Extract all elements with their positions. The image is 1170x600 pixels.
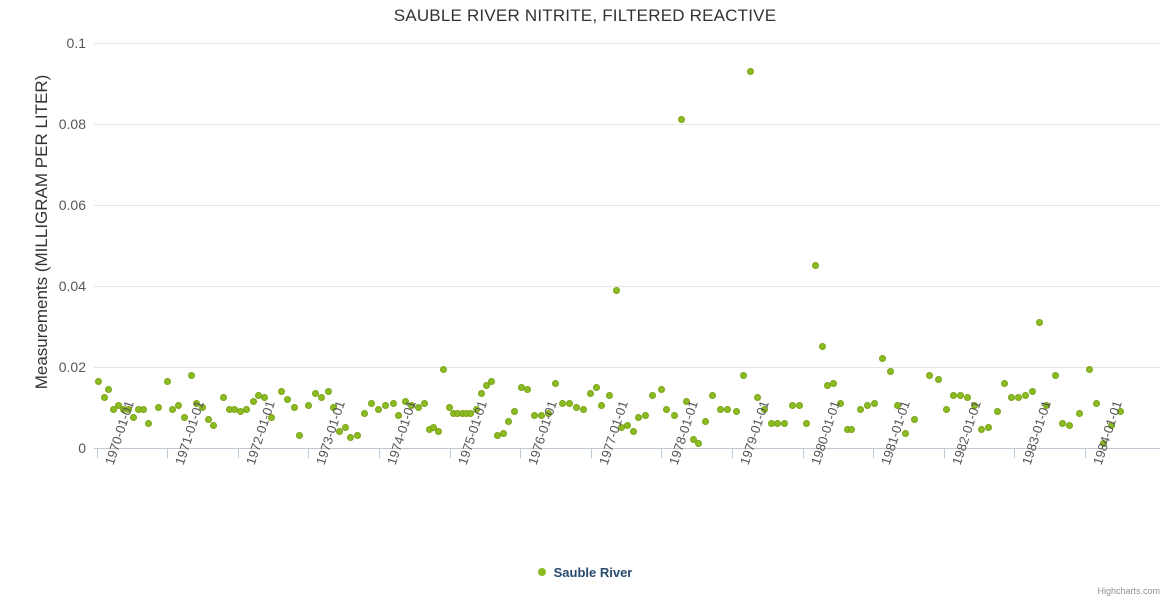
data-point[interactable] [702,418,709,425]
data-point[interactable] [250,398,257,405]
data-point[interactable] [566,400,573,407]
data-point[interactable] [559,400,566,407]
plot-area [94,43,1160,448]
data-point[interactable] [243,406,250,413]
data-point[interactable] [717,406,724,413]
data-point[interactable] [830,380,837,387]
data-point[interactable] [1008,394,1015,401]
data-point[interactable] [220,394,227,401]
gridline [94,43,1160,44]
data-point[interactable] [663,406,670,413]
data-point[interactable] [524,386,531,393]
data-point[interactable] [803,420,810,427]
y-axis-tick-label: 0.08 [59,116,86,132]
data-point[interactable] [635,414,642,421]
data-point[interactable] [935,376,942,383]
data-point[interactable] [390,400,397,407]
data-point[interactable] [140,406,147,413]
legend-item-sauble-river[interactable]: Sauble River [538,564,633,580]
data-point[interactable] [957,392,964,399]
x-axis-tick-mark [308,449,309,458]
data-point[interactable] [531,412,538,419]
data-point[interactable] [642,412,649,419]
gridline [94,124,1160,125]
x-axis-tick-mark [238,449,239,458]
gridline [94,205,1160,206]
x-axis-tick-mark [803,449,804,458]
x-axis-tick-mark [520,449,521,458]
data-point[interactable] [1029,388,1036,395]
data-point[interactable] [105,386,112,393]
data-point[interactable] [598,402,605,409]
data-point[interactable] [774,420,781,427]
data-point[interactable] [164,378,171,385]
data-point[interactable] [994,408,1001,415]
data-point[interactable] [318,394,325,401]
gridline [94,367,1160,368]
data-point[interactable] [848,426,855,433]
x-axis-tick-mark [97,449,98,458]
data-point[interactable] [709,392,716,399]
data-point[interactable] [747,68,754,75]
data-point[interactable] [593,384,600,391]
data-point[interactable] [812,262,819,269]
gridline [94,286,1160,287]
data-point[interactable] [678,116,685,123]
data-point[interactable] [1059,420,1066,427]
data-point[interactable] [325,388,332,395]
data-point[interactable] [887,368,894,375]
data-point[interactable] [926,372,933,379]
y-axis-tick-label: 0 [78,440,86,456]
y-axis-tick-label: 0.04 [59,278,86,294]
y-axis-tick-label: 0.1 [67,35,86,51]
data-point[interactable] [978,426,985,433]
data-point[interactable] [911,416,918,423]
x-axis-tick-mark [661,449,662,458]
data-point[interactable] [552,380,559,387]
data-point[interactable] [871,400,878,407]
data-point[interactable] [347,434,354,441]
data-point[interactable] [488,378,495,385]
data-point[interactable] [580,406,587,413]
data-point[interactable] [296,432,303,439]
data-point[interactable] [291,404,298,411]
data-point[interactable] [155,404,162,411]
data-point[interactable] [145,420,152,427]
legend-marker-icon [538,568,546,576]
x-axis-tick-mark [873,449,874,458]
chart-container: SAUBLE RIVER NITRITE, FILTERED REACTIVE … [0,0,1170,600]
data-point[interactable] [278,388,285,395]
data-point[interactable] [1022,392,1029,399]
x-axis-tick-mark [450,449,451,458]
data-point[interactable] [175,402,182,409]
x-axis-tick-mark [1014,449,1015,458]
data-point[interactable] [789,402,796,409]
data-point[interactable] [796,402,803,409]
data-point[interactable] [624,422,631,429]
data-point[interactable] [606,392,613,399]
data-point[interactable] [1093,400,1100,407]
data-point[interactable] [587,390,594,397]
data-point[interactable] [613,287,620,294]
data-point[interactable] [375,406,382,413]
data-point[interactable] [1052,372,1059,379]
data-point[interactable] [1001,380,1008,387]
x-axis-tick-mark [944,449,945,458]
data-point[interactable] [95,378,102,385]
data-point[interactable] [305,402,312,409]
data-point[interactable] [382,402,389,409]
data-point[interactable] [440,366,447,373]
data-point[interactable] [354,432,361,439]
data-point[interactable] [1015,394,1022,401]
data-point[interactable] [1086,366,1093,373]
data-point[interactable] [733,408,740,415]
y-axis-tick-label: 0.02 [59,359,86,375]
data-point[interactable] [478,390,485,397]
data-point[interactable] [361,410,368,417]
data-point[interactable] [943,406,950,413]
data-point[interactable] [671,412,678,419]
data-point[interactable] [435,428,442,435]
data-point[interactable] [1076,410,1083,417]
x-axis-tick-mark [732,449,733,458]
data-point[interactable] [950,392,957,399]
credits-link[interactable]: Highcharts.com [1097,586,1160,596]
data-point[interactable] [188,372,195,379]
x-axis-tick-mark [1085,449,1086,458]
data-point[interactable] [630,428,637,435]
data-point[interactable] [368,400,375,407]
data-point[interactable] [819,343,826,350]
data-point[interactable] [781,420,788,427]
data-point[interactable] [284,396,291,403]
y-axis-tick-label: 0.06 [59,197,86,213]
data-point[interactable] [210,422,217,429]
data-point[interactable] [511,408,518,415]
legend: Sauble River [0,563,1170,581]
data-point[interactable] [1066,422,1073,429]
data-point[interactable] [342,424,349,431]
data-point[interactable] [500,430,507,437]
data-point[interactable] [1036,319,1043,326]
data-point[interactable] [879,355,886,362]
data-point[interactable] [573,404,580,411]
data-point[interactable] [101,394,108,401]
data-point[interactable] [649,392,656,399]
data-point[interactable] [864,402,871,409]
data-point[interactable] [724,406,731,413]
data-point[interactable] [695,440,702,447]
x-axis-tick-mark [591,449,592,458]
legend-item-label: Sauble River [554,565,633,580]
data-point[interactable] [985,424,992,431]
data-point[interactable] [740,372,747,379]
data-point[interactable] [421,400,428,407]
y-axis-tick-labels: 00.020.040.060.080.1 [0,0,86,600]
data-point[interactable] [857,406,864,413]
x-axis-tick-mark [379,449,380,458]
x-axis-tick-mark [167,449,168,458]
data-point[interactable] [658,386,665,393]
data-point[interactable] [505,418,512,425]
page-title: SAUBLE RIVER NITRITE, FILTERED REACTIVE [0,6,1170,26]
